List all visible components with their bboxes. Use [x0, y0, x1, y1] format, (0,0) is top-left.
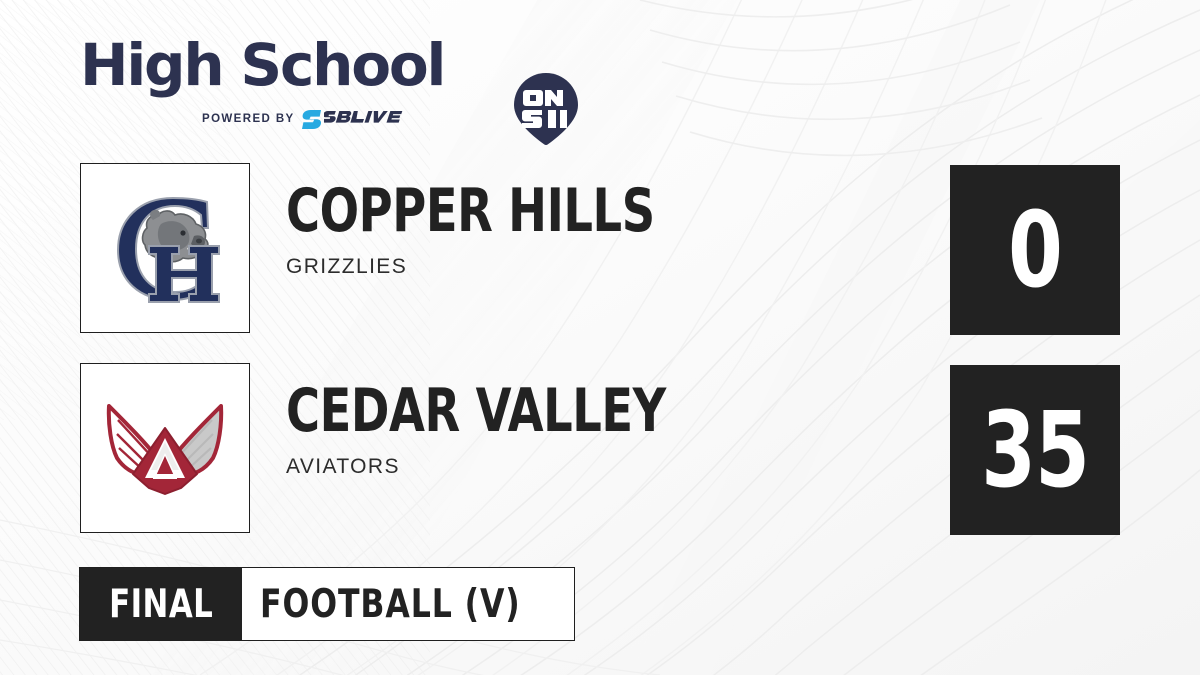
team-mascot: AVIATORS	[286, 455, 986, 479]
team-score-box: 0	[950, 165, 1120, 335]
powered-by-row: POWERED BY	[202, 110, 420, 128]
copper-hills-ch-bear-logo	[80, 163, 250, 333]
sblive-logo	[302, 110, 420, 129]
team-identity: COPPER HILLS GRIZZLIES	[286, 181, 986, 279]
on-si-pin-icon	[512, 72, 580, 146]
team-mascot: GRIZZLIES	[286, 255, 986, 279]
scoreboard-graphic: High School POWERED BY	[0, 0, 1200, 675]
game-status-bar: FINAL FOOTBALL (V)	[79, 567, 575, 641]
sblive-wordmark	[324, 110, 420, 129]
brand-wordmark: High School	[80, 34, 444, 96]
team-score: 0	[1008, 198, 1062, 302]
status-badge: FINAL	[80, 568, 242, 640]
team-name: CEDAR VALLEY	[286, 381, 888, 441]
sblive-bolt-icon	[302, 110, 322, 129]
brand-header: High School POWERED BY	[80, 34, 510, 134]
team-row: COPPER HILLS GRIZZLIES 0	[80, 163, 1120, 335]
status-state-label: FINAL	[109, 585, 213, 624]
team-name: COPPER HILLS	[286, 181, 888, 241]
powered-by-label: POWERED BY	[202, 113, 295, 125]
team-score-box: 35	[950, 365, 1120, 535]
cedar-valley-aviator-wings-logo	[80, 363, 250, 533]
sport-label-container: FOOTBALL (V)	[242, 568, 574, 640]
team-identity: CEDAR VALLEY AVIATORS	[286, 381, 986, 479]
sport-label: FOOTBALL (V)	[260, 585, 521, 624]
team-score: 35	[981, 398, 1089, 502]
team-row: CEDAR VALLEY AVIATORS 35	[80, 363, 1120, 535]
